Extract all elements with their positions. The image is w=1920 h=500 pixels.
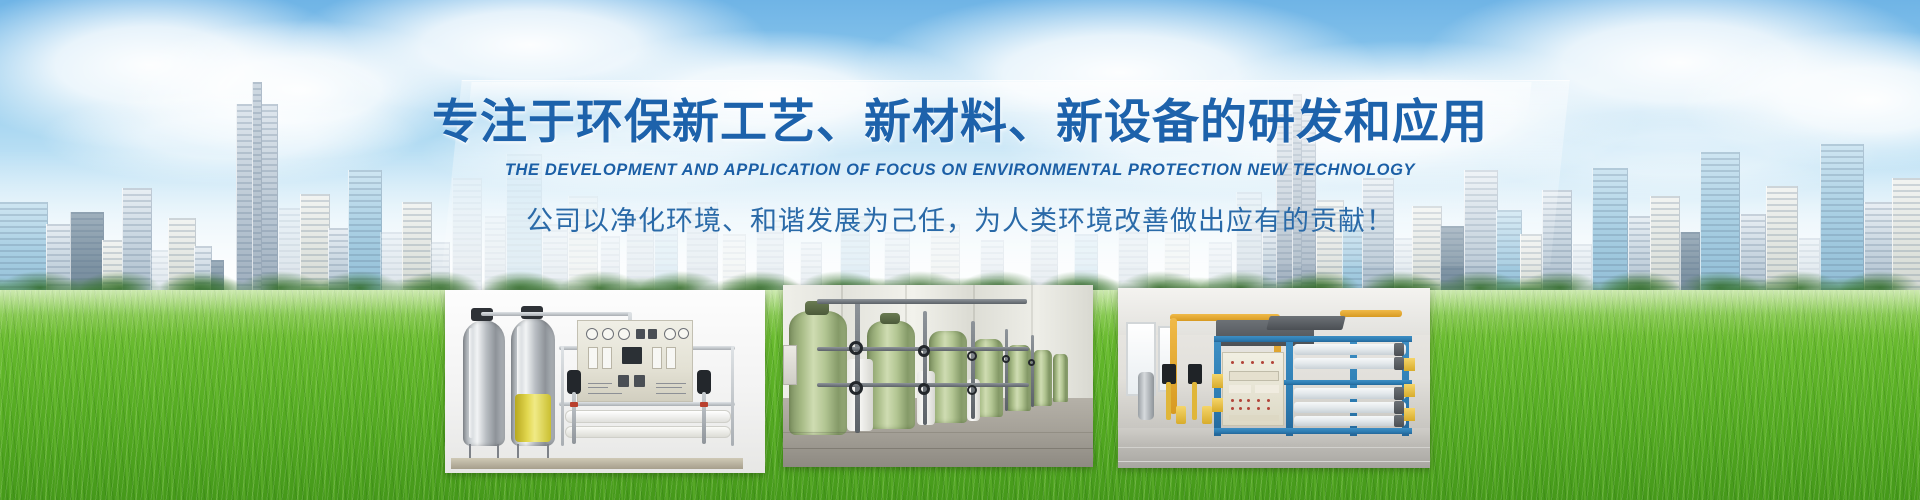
photo-stainless-ro-skid xyxy=(445,290,765,473)
photo-card-frp-vessel-row[interactable] xyxy=(783,285,1093,467)
product-photo-gallery xyxy=(0,0,1920,500)
photo-frp-vessel-row xyxy=(783,285,1093,467)
photo-card-industrial-ro-plant[interactable] xyxy=(1118,288,1430,468)
hero-banner: 专注于环保新工艺、新材料、新设备的研发和应用 THE DEVELOPMENT A… xyxy=(0,0,1920,500)
photo-industrial-ro-plant xyxy=(1118,288,1430,468)
photo-card-stainless-ro-skid[interactable] xyxy=(445,290,765,473)
